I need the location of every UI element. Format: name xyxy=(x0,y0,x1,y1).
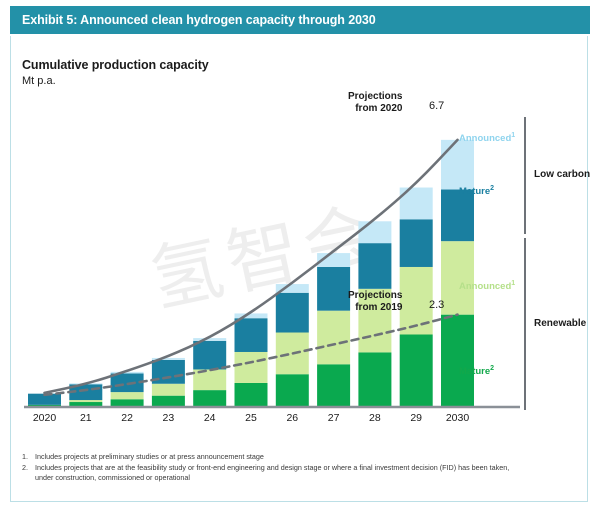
callout-2019-line1: Projections xyxy=(348,290,402,302)
x-axis-tick-label: 2030 xyxy=(436,412,480,424)
page-title: Exhibit 5: Announced clean hydrogen capa… xyxy=(10,13,376,27)
chart-units-label: Mt p.a. xyxy=(22,75,209,87)
bracket-low-carbon xyxy=(524,117,526,234)
x-axis-tick-label: 2020 xyxy=(23,412,67,424)
chart-page: Exhibit 5: Announced clean hydrogen capa… xyxy=(0,0,600,516)
x-axis-tick-label: 22 xyxy=(105,412,149,424)
chart-subtitle-block: Cumulative production capacity Mt p.a. xyxy=(22,58,209,87)
x-axis-tick-label: 25 xyxy=(229,412,273,424)
footnote-text: Includes projects at preliminary studies… xyxy=(35,452,522,463)
footnotes-block: 1.Includes projects at preliminary studi… xyxy=(22,452,522,484)
x-axis-tick-label: 21 xyxy=(64,412,108,424)
value-label-total: 6.7 xyxy=(429,100,444,112)
x-axis-tick-label: 28 xyxy=(353,412,397,424)
x-axis-tick-label: 24 xyxy=(188,412,232,424)
footnote-item: 2.Includes projects that are at the feas… xyxy=(22,463,522,484)
exhibit-header-bar: Exhibit 5: Announced clean hydrogen capa… xyxy=(10,6,590,34)
x-axis-tick-label: 26 xyxy=(270,412,314,424)
callout-2019-line2: from 2019 xyxy=(348,302,402,314)
legend-lowcarbon-announced: Announced1 xyxy=(459,132,515,144)
x-axis-tick-label: 23 xyxy=(146,412,190,424)
bracket-renewable xyxy=(524,238,526,410)
chart-subtitle: Cumulative production capacity xyxy=(22,58,209,72)
callout-2020-line1: Projections xyxy=(348,91,402,103)
legend-renewable-announced: Announced1 xyxy=(459,280,515,292)
footnote-item: 1.Includes projects at preliminary studi… xyxy=(22,452,522,463)
callout-projections-2020: Projections from 2020 xyxy=(348,91,402,115)
footnote-text: Includes projects that are at the feasib… xyxy=(35,463,522,484)
value-label-renewable: 2.3 xyxy=(429,299,444,311)
bracket-label-low-carbon: Low carbon xyxy=(534,169,590,180)
footnote-number: 2. xyxy=(22,463,35,484)
x-axis-tick-label: 29 xyxy=(394,412,438,424)
callout-2020-line2: from 2020 xyxy=(348,103,402,115)
legend-lowcarbon-mature: Mature2 xyxy=(459,185,494,197)
x-axis-tick-label: 27 xyxy=(312,412,356,424)
bracket-label-renewable: Renewable xyxy=(534,318,586,329)
callout-projections-2019: Projections from 2019 xyxy=(348,290,402,314)
legend-renewable-mature: Mature2 xyxy=(459,365,494,377)
footnote-number: 1. xyxy=(22,452,35,463)
